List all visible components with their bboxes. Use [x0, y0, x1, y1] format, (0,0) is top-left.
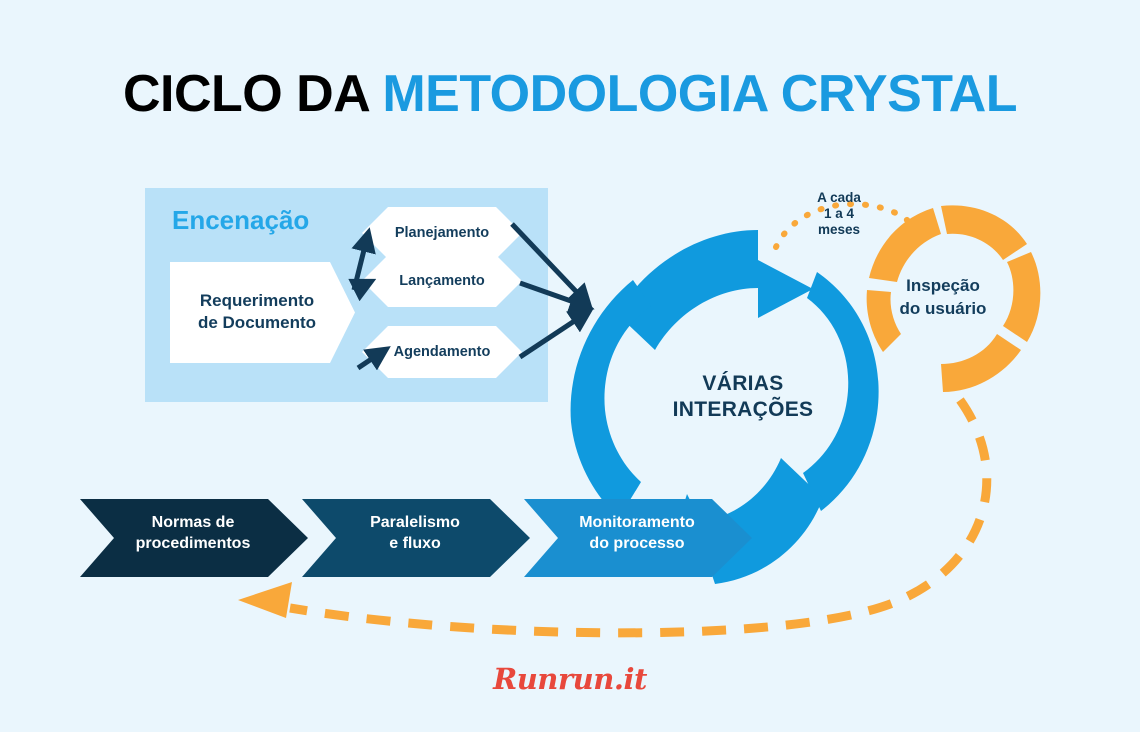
runrun-logo[interactable]: Runrun.it: [0, 662, 1140, 696]
process-chevron-2-line1: Paralelismo: [370, 514, 460, 531]
step-hexagon-label-planejamento: Planejamento: [362, 207, 522, 259]
cadence-note-line1: A cada: [817, 190, 861, 205]
inspection-cycle-line1: Inspeção: [906, 276, 980, 295]
cadence-note: A cada 1 a 4 meses: [792, 190, 886, 238]
inspection-cycle-label: Inspeção do usuário: [860, 275, 1026, 321]
page-title: CICLO DA METODOLOGIA CRYSTAL: [0, 64, 1140, 124]
document-label-line2: de Documento: [198, 313, 316, 332]
step-hexagon-label-agendamento: Agendamento: [362, 326, 522, 378]
ring-orange-segment-topright: [941, 205, 1027, 260]
infographic-canvas: CICLO DA METODOLOGIA CRYSTAL Encenação R…: [0, 0, 1140, 732]
iteration-cycle-label: VÁRIAS INTERAÇÕES: [640, 371, 846, 424]
staging-panel-heading: Encenação: [172, 205, 309, 236]
process-chevron-2-line2: e fluxo: [389, 535, 441, 552]
iteration-cycle-line2: INTERAÇÕES: [673, 398, 814, 421]
cadence-note-line3: meses: [818, 222, 860, 237]
process-chevron-2-label: Paralelismo e fluxo: [320, 513, 510, 555]
document-label: Requerimento de Documento: [176, 290, 338, 334]
iteration-cycle-line1: VÁRIAS: [702, 372, 783, 395]
ring-orange-segment-bottom: [941, 334, 1021, 392]
step-hexagon-label-lancamento: Lançamento: [362, 255, 522, 307]
page-title-dark: CICLO DA: [123, 65, 382, 123]
process-chevron-3-line1: Monitoramento: [579, 514, 695, 531]
process-chevron-1-label: Normas de procedimentos: [98, 513, 288, 555]
process-chevron-1-line1: Normas de: [152, 514, 235, 531]
process-chevron-3-label: Monitoramento do processo: [542, 513, 732, 555]
feedback-arrowhead: [238, 582, 292, 618]
process-chevron-3-line2: do processo: [589, 535, 684, 552]
inspection-cycle-line2: do usuário: [900, 299, 987, 318]
cadence-note-line2: 1 a 4: [824, 206, 854, 221]
page-title-blue: METODOLOGIA CRYSTAL: [382, 65, 1017, 123]
document-label-line1: Requerimento: [200, 291, 314, 310]
ring-blue-segment-left: [571, 280, 651, 518]
process-chevron-1-line2: procedimentos: [136, 535, 251, 552]
